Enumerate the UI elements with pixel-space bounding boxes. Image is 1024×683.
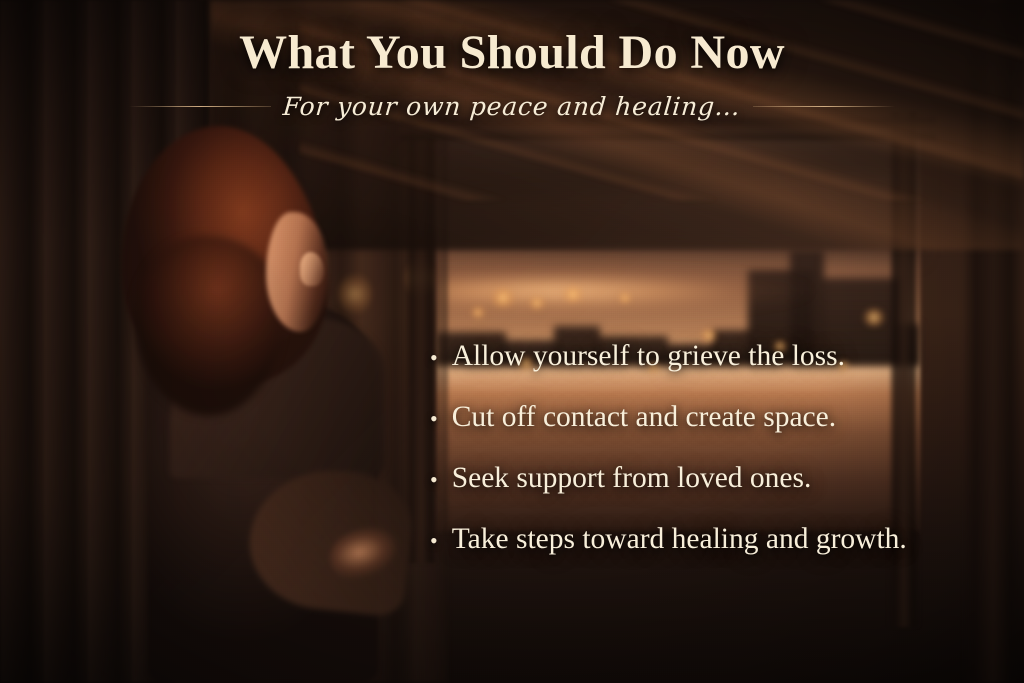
list-item: • Take steps toward healing and growth. [430,523,1024,584]
text-overlay: What You Should Do Now For your own peac… [0,0,1024,683]
bullet-marker-icon: • [430,469,438,491]
list-item: • Seek support from loved ones. [430,462,1024,523]
list-item-label: Seek support from loved ones. [452,462,812,495]
bullet-marker-icon: • [430,408,438,430]
subtitle-row: For your own peace and healing… [0,92,1024,121]
page-subtitle: For your own peace and healing… [282,92,742,121]
poster-canvas: What You Should Do Now For your own peac… [0,0,1024,683]
advice-list: • Allow yourself to grieve the loss. • C… [430,340,1024,584]
list-item: • Allow yourself to grieve the loss. [430,340,1024,401]
page-title: What You Should Do Now [0,28,1024,78]
bullet-marker-icon: • [430,347,438,369]
list-item-label: Take steps toward healing and growth. [452,523,907,556]
list-item-label: Allow yourself to grieve the loss. [452,340,845,373]
list-item-label: Cut off contact and create space. [452,401,836,434]
divider-rule-right [753,106,895,107]
list-item: • Cut off contact and create space. [430,401,1024,462]
divider-rule-left [129,106,271,107]
bullet-marker-icon: • [430,530,438,552]
